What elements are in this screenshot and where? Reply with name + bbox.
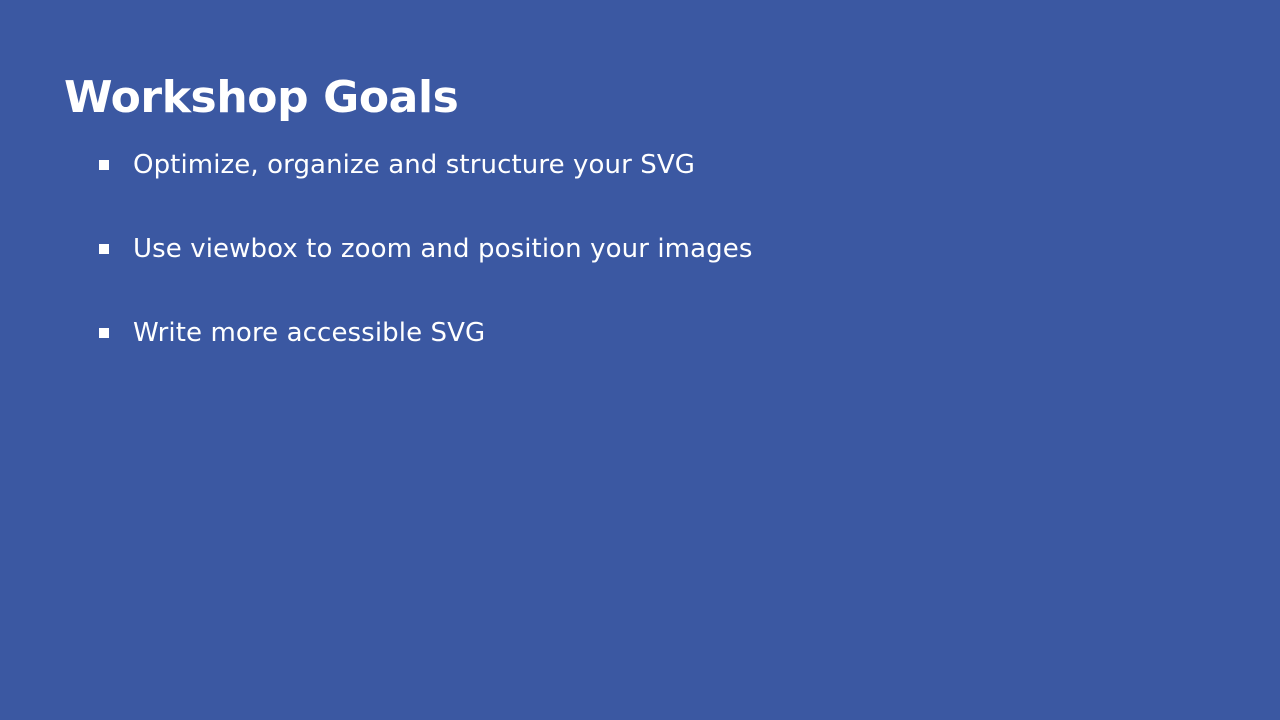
list-item: Optimize, organize and structure your SV… (99, 146, 1199, 230)
list-item-label: Write more accessible SVG (133, 314, 1199, 352)
list-item: Write more accessible SVG (99, 314, 1199, 398)
square-bullet-icon (99, 328, 109, 338)
square-bullet-icon (99, 160, 109, 170)
list-item-label: Use viewbox to zoom and position your im… (133, 230, 1199, 268)
list-item: Use viewbox to zoom and position your im… (99, 230, 1199, 314)
page-title: Workshop Goals (64, 74, 458, 122)
list-item-label: Optimize, organize and structure your SV… (133, 146, 1199, 184)
square-bullet-icon (99, 244, 109, 254)
goals-bullet-list: Optimize, organize and structure your SV… (99, 146, 1199, 398)
presentation-slide: Workshop Goals Optimize, organize and st… (0, 0, 1280, 720)
